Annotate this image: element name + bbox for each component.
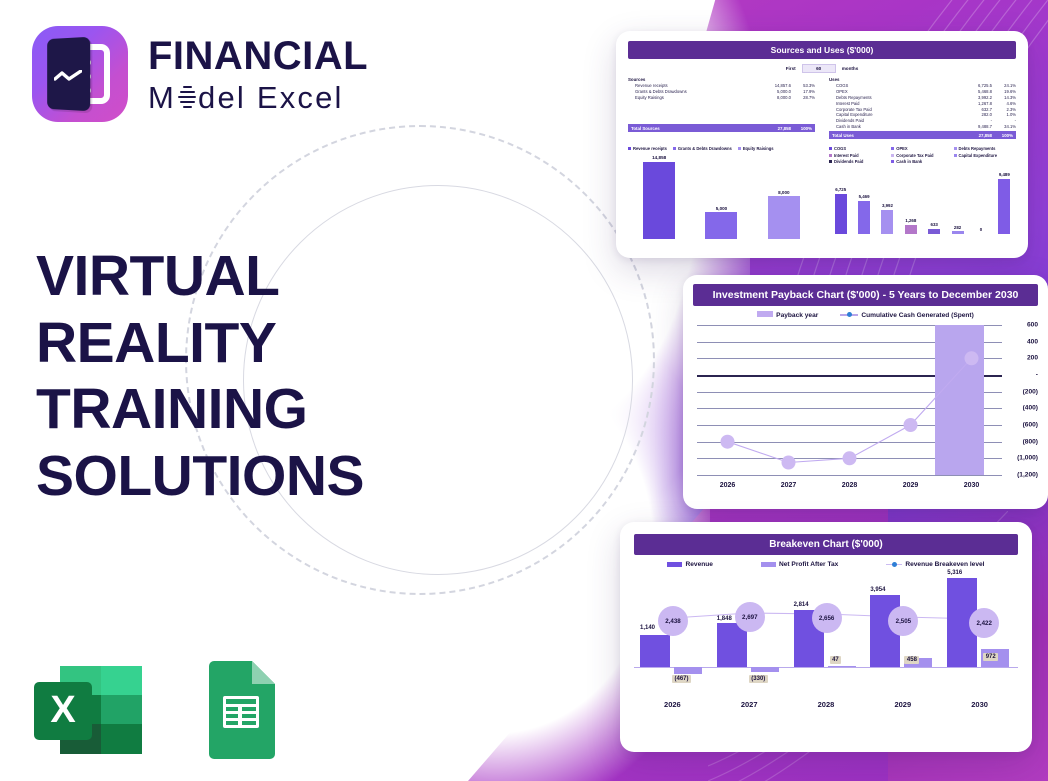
row-label: Grants & Debts Drawdowns <box>628 89 757 94</box>
legend-label: Grants & Debts Drawdowns <box>678 146 732 151</box>
net-profit-bar <box>674 667 702 674</box>
sources-and-uses-title: Sources and Uses ($'000) <box>628 41 1016 59</box>
zigzag-chart-icon <box>54 70 82 82</box>
revenue-bar <box>640 635 670 667</box>
legend-item: Cash in Bank <box>891 159 953 164</box>
row-pct: 14.3% <box>992 95 1016 100</box>
legend-item: Capital Expenditure <box>954 153 1016 158</box>
legend-item: OPEX <box>891 146 953 151</box>
legend-item: Revenue Breakeven level <box>886 561 984 568</box>
bar <box>858 201 870 234</box>
row-amount: 5,468.8 <box>958 89 992 94</box>
row-label: Dividends Paid <box>829 118 958 123</box>
total-uses-row: Total Uses 27,858 100% <box>829 131 1016 139</box>
bar <box>835 194 847 234</box>
bar-group: 9,489 <box>998 170 1010 234</box>
breakeven-bubble-label: 2,697 <box>735 602 765 632</box>
investment-payback-title: Investment Payback Chart ($'000) - 5 Yea… <box>693 284 1038 306</box>
bar <box>768 196 800 239</box>
brand-subtitle-part2: del Excel <box>198 82 344 113</box>
bar <box>998 179 1010 234</box>
row-label: Capital Expenditure <box>829 112 958 117</box>
bar-group: 5,316 972 2,422 <box>941 572 1018 694</box>
row-pct: 28.7% <box>791 95 815 100</box>
legend-label: Revenue <box>685 561 713 568</box>
net-profit-bar <box>751 667 779 672</box>
uses-chart-legend: COGS OPEX Debts Repayments Interest Paid… <box>829 146 1016 166</box>
x-axis-tick-label: 2029 <box>903 482 919 489</box>
legend-swatch <box>757 311 773 317</box>
row-pct: 2.3% <box>992 107 1016 112</box>
svg-text:X: X <box>50 689 76 731</box>
legend-label: Dividends Paid <box>834 159 863 164</box>
bar-value-label: 5,469 <box>859 194 870 199</box>
legend-item: Revenue receipts <box>628 146 667 151</box>
total-amount: 27,858 <box>757 126 791 131</box>
bar-group: 633 <box>928 170 940 234</box>
legend-label: Equity Raisings <box>743 146 774 151</box>
bar-value-label: 5,000 <box>716 206 728 211</box>
net-profit-bar <box>828 666 856 668</box>
table-row: Grants & Debts Drawdowns 5,000.0 17.9% <box>628 89 815 95</box>
legend-label: OPEX <box>896 146 907 151</box>
x-axis-tick-label: 2027 <box>781 482 797 489</box>
row-label: Debts Repayments <box>829 95 958 100</box>
row-amount: - <box>958 118 992 123</box>
legend-item: Debts Repayments <box>954 146 1016 151</box>
table-row: Cash in Bank 9,488.7 34.1% <box>829 123 1016 129</box>
row-pct: 24.1% <box>992 83 1016 88</box>
row-pct: 53.3% <box>791 83 815 88</box>
breakeven-bubble-label: 2,505 <box>888 606 918 636</box>
table-row: OPEX 5,468.8 19.6% <box>829 89 1016 95</box>
row-label: COGS <box>829 83 958 88</box>
total-label: Total Uses <box>829 133 958 138</box>
brand-logo: FINANCIAL M del Excel <box>32 26 368 122</box>
sources-chart-legend: Revenue receipts Grants & Debts Drawdown… <box>628 146 815 151</box>
legend-item: Dividends Paid <box>829 159 891 164</box>
revenue-value-label: 2,814 <box>794 602 809 608</box>
y-axis-tick-label: (200) <box>1023 388 1038 395</box>
x-axis-tick-label: 2028 <box>788 700 865 709</box>
bar <box>643 162 675 240</box>
row-label: Equity Raisings <box>628 95 757 100</box>
sources-uses-table: Sources Revenue receipts 14,857.6 53.3% … <box>628 77 1016 139</box>
brand-title: FINANCIAL <box>148 36 368 76</box>
table-spacer <box>628 100 815 122</box>
breakeven-card: Breakeven Chart ($'000) Revenue Net Prof… <box>620 522 1032 752</box>
bar-value-label: 1,268 <box>905 218 916 223</box>
table-row: Dividends Paid - - <box>829 118 1016 124</box>
legend-swatch <box>761 562 776 567</box>
period-prefix-label: First <box>786 66 796 71</box>
breakeven-bubble-label: 2,422 <box>969 608 999 638</box>
legend-item: Interest Paid <box>829 153 891 158</box>
x-axis-tick-label: 2026 <box>720 482 736 489</box>
bar-group: 2,814 47 2,656 <box>788 572 865 694</box>
x-axis-tick-label: 2029 <box>864 700 941 709</box>
legend-item: Equity Raisings <box>738 146 774 151</box>
sources-chart-block: Revenue receipts Grants & Debts Drawdown… <box>628 141 815 239</box>
breakeven-bubble-label: 2,656 <box>812 603 842 633</box>
x-axis-tick-label: 2030 <box>941 700 1018 709</box>
legend-item: Corporate Tax Paid <box>891 153 953 158</box>
total-amount: 27,858 <box>958 133 992 138</box>
bar-value-label: 14,858 <box>652 155 666 160</box>
breakeven-title: Breakeven Chart ($'000) <box>634 534 1018 555</box>
legend-label: Debts Repayments <box>959 146 996 151</box>
total-pct: 100% <box>992 133 1016 138</box>
brand-subtitle: M del Excel <box>148 82 368 113</box>
bar-group: 1,848 (330) 2,697 <box>711 572 788 694</box>
table-row: Corporate Tax Paid 632.7 2.3% <box>829 106 1016 112</box>
table-row: Debts Repayments 3,992.2 14.3% <box>829 95 1016 101</box>
legend-label: Net Profit After Tax <box>779 561 838 568</box>
bar-group: 5,469 <box>858 170 870 234</box>
y-axis-tick-label: (1,200) <box>1017 472 1038 479</box>
sources-heading: Sources <box>628 77 815 82</box>
financial-model-logo-icon <box>32 26 128 122</box>
bar-value-label: 8,000 <box>778 190 790 195</box>
sources-bar-chart: 14,858 5,000 8,000 <box>628 155 815 239</box>
legend-line-marker <box>840 314 858 316</box>
y-axis-tick-label: - <box>1036 372 1038 379</box>
bar <box>905 225 917 234</box>
breakeven-x-axis: 2026 2027 2028 2029 2030 <box>634 700 1018 709</box>
period-suffix-label: months <box>842 66 859 71</box>
bar-value-label: 0 <box>980 227 982 232</box>
stacked-bars-o-icon <box>177 84 197 110</box>
table-row: Capital Expenditure 282.0 1.0% <box>829 112 1016 118</box>
total-pct: 100% <box>791 126 815 131</box>
legend-item: Grants & Debts Drawdowns <box>673 146 732 151</box>
row-label: Cash in Bank <box>829 124 958 129</box>
bar <box>881 210 893 234</box>
uses-chart-block: COGS OPEX Debts Repayments Interest Paid… <box>829 141 1016 239</box>
y-axis-tick-label: (600) <box>1023 422 1038 429</box>
bar-group: 282 <box>952 170 964 234</box>
bar-group: 0 <box>975 170 987 234</box>
legend-line-marker <box>886 564 902 566</box>
period-selector-row: First 60 months <box>628 64 1016 73</box>
bar <box>928 229 940 234</box>
payback-legend: Payback year Cumulative Cash Generated (… <box>693 311 1038 319</box>
x-axis-tick-label: 2028 <box>842 482 858 489</box>
page-title: VIRTUAL REALITY TRAINING SOLUTIONS <box>36 243 436 510</box>
table-row: Revenue receipts 14,857.6 53.3% <box>628 83 815 89</box>
breakeven-bubble-label: 2,438 <box>658 606 688 636</box>
bar-group: 5,000 <box>705 155 737 239</box>
uses-bar-chart: 6,725 5,469 3,992 1,268 633 282 0 9,489 <box>829 170 1016 234</box>
legend-label: Capital Expenditure <box>959 153 997 158</box>
investment-payback-card: Investment Payback Chart ($'000) - 5 Yea… <box>683 275 1048 509</box>
bar-value-label: 633 <box>931 222 938 227</box>
row-label: Interest Paid <box>829 101 958 106</box>
headline-line-1: VIRTUAL <box>36 243 436 310</box>
legend-item: Revenue <box>667 561 713 568</box>
sources-and-uses-card: Sources and Uses ($'000) First 60 months… <box>616 31 1028 258</box>
row-amount: 1,267.8 <box>958 101 992 106</box>
y-axis-tick-label: 200 <box>1027 355 1038 362</box>
net-profit-value-label: (467) <box>672 675 691 683</box>
revenue-value-label: 5,316 <box>947 570 962 576</box>
legend-label: Cash in Bank <box>896 159 922 164</box>
row-amount: 3,992.2 <box>958 95 992 100</box>
row-amount: 282.0 <box>958 112 992 117</box>
bar <box>952 231 964 234</box>
row-amount: 8,000.0 <box>757 95 791 100</box>
legend-item: Cumulative Cash Generated (Spent) <box>840 312 973 319</box>
bar-value-label: 9,489 <box>999 172 1010 177</box>
legend-label: Revenue Breakeven level <box>905 561 984 568</box>
x-axis-tick-label: 2030 <box>964 482 980 489</box>
revenue-value-label: 3,954 <box>870 587 885 593</box>
row-label: OPEX <box>829 89 958 94</box>
uses-heading: Uses <box>829 77 1016 82</box>
total-label: Total Sources <box>628 126 757 131</box>
investment-payback-chart: 600 400 200 - (200) (400) (600) (800) (1… <box>697 325 1002 475</box>
poster-canvas: FINANCIAL M del Excel VIRTUAL REALITY TR… <box>0 0 1048 781</box>
row-amount: 6,725.5 <box>958 83 992 88</box>
brand-subtitle-part1: M <box>148 82 176 113</box>
payback-x-axis: 2026 2027 2028 2029 2030 <box>697 482 1002 489</box>
google-sheets-icon <box>201 660 281 760</box>
legend-label: Payback year <box>776 312 818 319</box>
bar-group: 3,992 <box>881 170 893 234</box>
legend-label: Interest Paid <box>834 153 859 158</box>
bar-group: 3,954 458 2,505 <box>864 572 941 694</box>
x-axis-tick-label: 2026 <box>634 700 711 709</box>
microsoft-excel-icon: X <box>30 660 146 760</box>
row-label: Revenue receipts <box>628 83 757 88</box>
legend-label: Corporate Tax Paid <box>896 153 933 158</box>
app-format-icons: X <box>30 660 281 760</box>
bar-value-label: 6,725 <box>835 187 846 192</box>
breakeven-legend: Revenue Net Profit After Tax Revenue Bre… <box>634 561 1018 568</box>
headline-line-3: TRAINING <box>36 376 436 443</box>
legend-item: Payback year <box>757 311 818 319</box>
legend-label: COGS <box>834 146 846 151</box>
y-axis-tick-label: (400) <box>1023 405 1038 412</box>
net-profit-value-label: 972 <box>983 653 998 661</box>
breakeven-chart: 1,140 (467) 2,438 1,848 (330) 2,697 2,81… <box>634 572 1018 694</box>
bar-group: 6,725 <box>835 170 847 234</box>
row-amount: 14,857.6 <box>757 83 791 88</box>
bar <box>705 212 737 239</box>
period-months-input[interactable]: 60 <box>802 64 836 73</box>
net-profit-value-label: 47 <box>830 656 842 664</box>
table-row: COGS 6,725.5 24.1% <box>829 83 1016 89</box>
legend-label: Cumulative Cash Generated (Spent) <box>861 312 973 319</box>
legend-swatch <box>667 562 682 567</box>
cumulative-cash-markers <box>697 325 1002 475</box>
uses-column: Uses COGS 6,725.5 24.1% OPEX 5,468.8 19.… <box>829 77 1016 139</box>
headline-line-4: SOLUTIONS <box>36 443 436 510</box>
revenue-value-label: 1,848 <box>717 616 732 622</box>
sources-column: Sources Revenue receipts 14,857.6 53.3% … <box>628 77 815 139</box>
legend-label: Revenue receipts <box>633 146 667 151</box>
bar-value-label: 3,992 <box>882 203 893 208</box>
legend-item: COGS <box>829 146 891 151</box>
row-amount: 9,488.7 <box>958 124 992 129</box>
bar-group: 1,140 (467) 2,438 <box>634 572 711 694</box>
bar-group: 1,268 <box>905 170 917 234</box>
legend-item: Net Profit After Tax <box>761 561 838 568</box>
net-profit-value-label: (330) <box>749 675 768 683</box>
row-label: Corporate Tax Paid <box>829 107 958 112</box>
revenue-value-label: 1,140 <box>640 625 655 631</box>
y-axis-tick-label: 600 <box>1027 322 1038 329</box>
total-sources-row: Total Sources 27,858 100% <box>628 124 815 132</box>
table-row: Equity Raisings 8,000.0 28.7% <box>628 95 815 101</box>
bar-group: 8,000 <box>768 155 800 239</box>
row-pct: 1.0% <box>992 112 1016 117</box>
row-pct: 34.1% <box>992 124 1016 129</box>
bar-group: 14,858 <box>643 155 675 239</box>
row-pct: - <box>992 118 1016 123</box>
bar-value-label: 282 <box>954 225 961 230</box>
row-pct: 19.6% <box>992 89 1016 94</box>
row-amount: 5,000.0 <box>757 89 791 94</box>
table-row: Interest Paid 1,267.8 4.6% <box>829 100 1016 106</box>
row-amount: 632.7 <box>958 107 992 112</box>
y-axis-tick-label: (800) <box>1023 438 1038 445</box>
row-pct: 4.6% <box>992 101 1016 106</box>
y-axis-tick-label: 400 <box>1027 338 1038 345</box>
row-pct: 17.9% <box>791 89 815 94</box>
net-profit-value-label: 458 <box>904 656 919 664</box>
x-axis-tick-label: 2027 <box>711 700 788 709</box>
y-axis-tick-label: (1,000) <box>1017 455 1038 462</box>
brand-text: FINANCIAL M del Excel <box>148 36 368 113</box>
headline-line-2: REALITY <box>36 310 436 377</box>
